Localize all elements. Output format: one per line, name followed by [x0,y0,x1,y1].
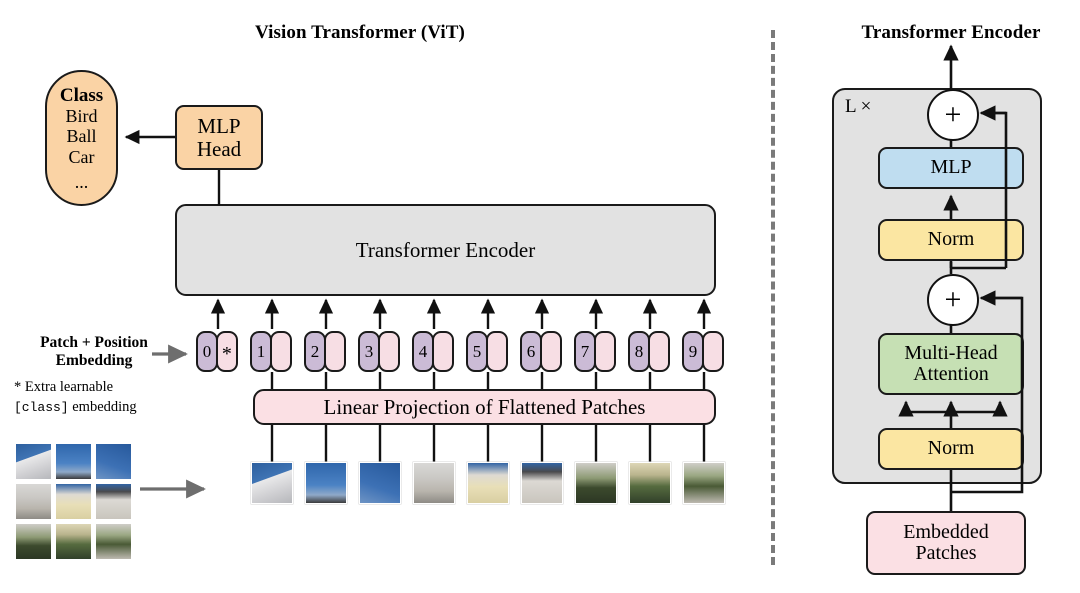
encoder-norm-top-block: Norm [878,219,1024,261]
residual-add-bottom: + [927,274,979,326]
flattened-patch-2 [305,462,347,504]
source-patch-r1-c1 [55,483,92,520]
source-patch-r2-c2 [95,523,132,560]
embedded-patches-label: Embedded Patches [903,522,989,565]
embedded-patches-box: Embedded Patches [866,511,1026,575]
source-patch-r2-c1 [55,523,92,560]
flattened-patch-3 [359,462,401,504]
encoder-mlp-label: MLP [930,157,971,178]
flattened-patch-6 [521,462,563,504]
encoder-norm-bottom-block: Norm [878,428,1024,470]
flattened-patch-8 [629,462,671,504]
flattened-patch-5 [467,462,509,504]
residual-add-top-symbol: + [945,100,962,130]
source-patch-r0-c1 [55,443,92,480]
source-patch-r0-c0 [15,443,52,480]
source-patch-r1-c0 [15,483,52,520]
flattened-patch-1 [251,462,293,504]
source-patch-r2-c0 [15,523,52,560]
encoder-multi-head-attention-block: Multi-Head Attention [878,333,1024,395]
flattened-patch-4 [413,462,455,504]
residual-add-top: + [927,89,979,141]
right-panel-title: Transformer Encoder [828,22,1074,44]
encoder-mlp-block: MLP [878,147,1024,189]
residual-add-bottom-symbol: + [945,285,962,315]
encoder-norm-top-label: Norm [928,229,975,250]
flattened-patch-9 [683,462,725,504]
panel-divider [771,30,775,565]
encoder-multi-head-attention-label: Multi-Head Attention [904,343,997,386]
encoder-norm-bottom-label: Norm [928,438,975,459]
source-image-grid [15,443,135,561]
source-patch-r1-c2 [95,483,132,520]
repeat-count-label: L × [845,96,871,118]
source-patch-r0-c2 [95,443,132,480]
flattened-patch-7 [575,462,617,504]
